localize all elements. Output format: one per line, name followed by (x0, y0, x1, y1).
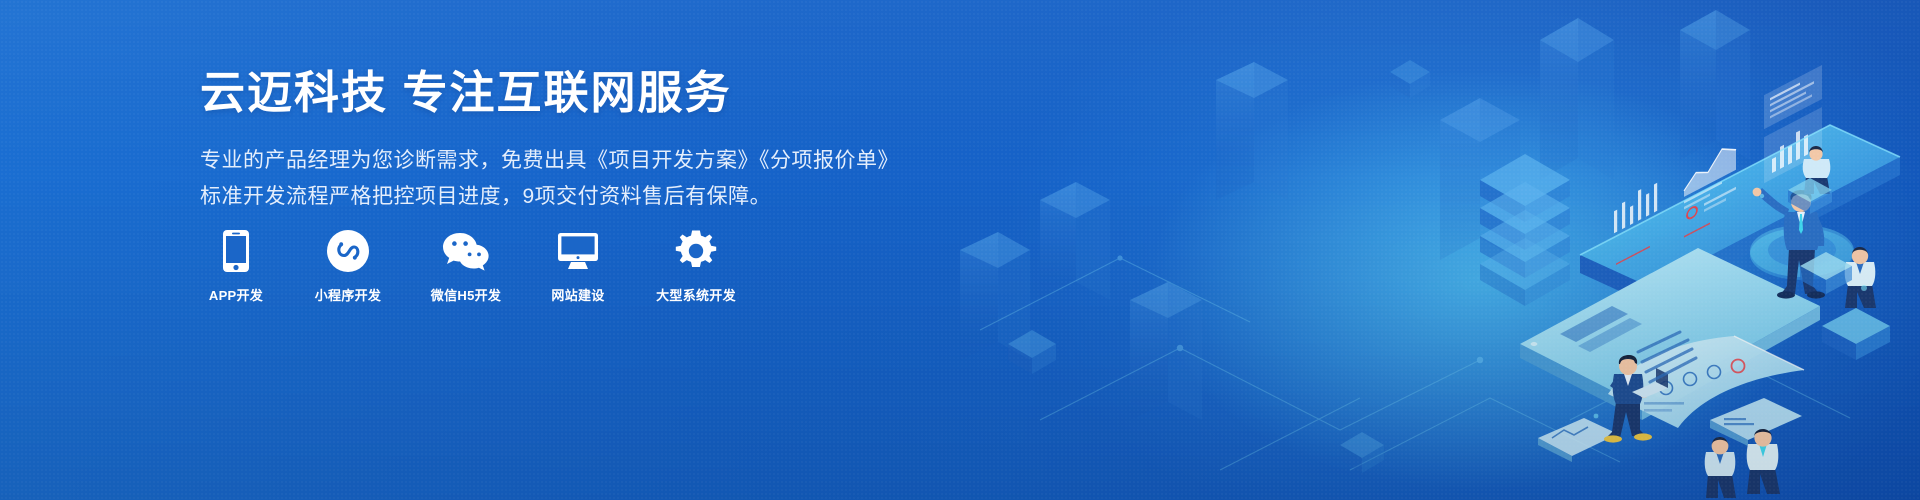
city-buildings (960, 10, 1750, 420)
monitor-icon (557, 228, 599, 274)
tablet-device (1520, 248, 1820, 420)
service-label: APP开发 (209, 285, 263, 304)
service-item-app[interactable]: APP开发 (200, 228, 272, 304)
small-cube-top-right (1788, 178, 1832, 214)
floating-cubes (1008, 60, 1430, 473)
small-data-panel (1710, 398, 1802, 446)
motion-streaks (1638, 332, 1696, 382)
person-standing (1753, 188, 1825, 299)
banner-content: 云迈科技 专注互联网服务 专业的产品经理为您诊断需求，免费出具《项目开发方案》《… (200, 66, 920, 215)
person-on-pedestal (1822, 247, 1890, 360)
server-stack (1480, 154, 1570, 306)
service-label: 微信H5开发 (431, 285, 501, 304)
service-item-large-system[interactable]: 大型系统开发 (648, 228, 744, 304)
dashboard-monitor (1580, 65, 1900, 305)
mini-program-icon (327, 228, 369, 274)
mini-chart-panel (1538, 418, 1618, 462)
service-item-miniprogram[interactable]: 小程序开发 (306, 228, 390, 304)
service-list: APP开发 小程序开发 (200, 228, 744, 304)
person-with-laptop (1604, 355, 1668, 443)
page-title: 云迈科技 专注互联网服务 (200, 66, 920, 121)
small-box (1800, 252, 1852, 294)
banner-subtitle: 专业的产品经理为您诊断需求，免费出具《项目开发方案》《分项报价单》 标准开发流程… (200, 143, 920, 215)
wechat-icon (442, 228, 490, 274)
data-chart-panel (1608, 336, 1804, 428)
service-item-website[interactable]: 网站建设 (542, 228, 614, 304)
person-top-right (1803, 146, 1831, 194)
mobile-phone-icon (222, 228, 250, 274)
circuit-lines (980, 255, 1850, 470)
hero-banner: 云迈科技 专注互联网服务 专业的产品经理为您诊断需求，免费出具《项目开发方案》《… (0, 0, 1920, 500)
subtitle-line-1: 专业的产品经理为您诊断需求，免费出具《项目开发方案》《分项报价单》 (200, 143, 920, 179)
subtitle-line-2: 标准开发流程严格把控项目进度，9项交付资料售后有保障。 (200, 179, 920, 215)
gear-icon (675, 228, 717, 274)
service-label: 大型系统开发 (656, 285, 736, 304)
person-group (1705, 429, 1780, 498)
isometric-tech-illustration (920, 0, 1920, 500)
service-item-wechat-h5[interactable]: 微信H5开发 (424, 228, 508, 304)
service-label: 小程序开发 (315, 285, 382, 304)
service-label: 网站建设 (551, 285, 604, 304)
platform-disc (1750, 225, 1854, 280)
glow-accents (1594, 194, 1867, 419)
